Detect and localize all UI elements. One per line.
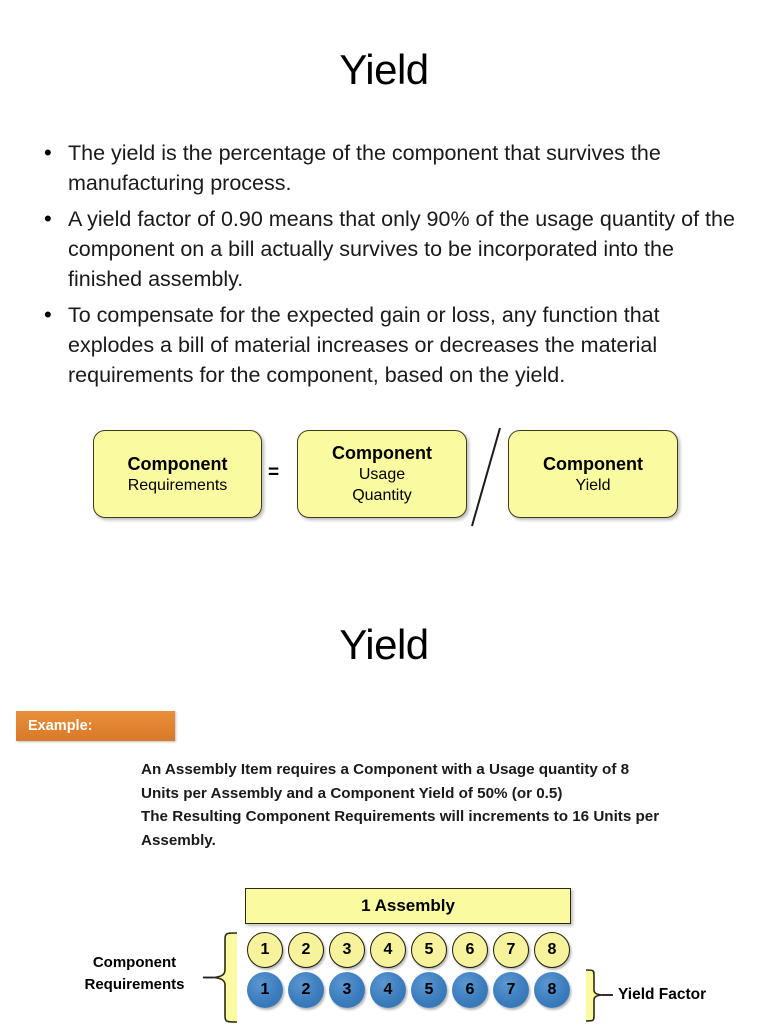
bullet-dot-icon: • [38,300,68,330]
circle-item: 3 [329,972,365,1008]
component-requirements-label: Component Requirements [72,952,197,996]
circle-item: 6 [452,932,488,968]
circle-item: 2 [288,932,324,968]
circle-item: 4 [370,972,406,1008]
circle-item: 1 [247,972,283,1008]
equals-sign: = [268,463,279,483]
list-item: • The yield is the percentage of the com… [38,138,738,198]
component-circles-grid: 12345678 12345678 [247,932,575,1024]
bullet-text: To compensate for the expected gain or l… [68,300,738,390]
bullet-dot-icon: • [38,204,68,234]
example-badge-label: Example: [28,718,92,734]
circle-item: 1 [247,932,283,968]
slide-yield-example: Yield Example: An Assembly Item requires… [0,600,768,1024]
formula-box-line3: Quantity [352,485,412,506]
division-slash-icon [466,426,508,528]
page-title: Yield [0,46,768,94]
circle-item: 5 [411,932,447,968]
page-title: Yield [0,621,768,669]
circle-item: 6 [452,972,488,1008]
list-item: • A yield factor of 0.90 means that only… [38,204,738,294]
left-brace-icon [203,930,243,1025]
bullet-text: The yield is the percentage of the compo… [68,138,738,198]
formula-box-component-yield: Component Yield [508,430,678,518]
bullet-text: A yield factor of 0.90 means that only 9… [68,204,738,294]
bullet-list: • The yield is the percentage of the com… [38,138,738,396]
formula-box-component-usage-quantity: Component Usage Quantity [297,430,467,518]
circle-item: 5 [411,972,447,1008]
circle-item: 7 [493,972,529,1008]
formula-box-line1: Component [128,453,228,475]
circle-item: 2 [288,972,324,1008]
formula-box-line2: Yield [576,475,611,496]
formula-box-line1: Component [332,442,432,464]
circle-row-usage: 12345678 [247,932,575,968]
circle-row-yield: 12345678 [247,972,575,1008]
yield-factor-label: Yield Factor [618,985,706,1005]
formula-box-line2: Requirements [128,475,228,496]
formula-box-component-requirements: Component Requirements [93,430,262,518]
slide-yield-definition: Yield • The yield is the percentage of t… [0,0,768,600]
circle-item: 4 [370,932,406,968]
example-description: An Assembly Item requires a Component wi… [141,758,661,852]
circle-item: 7 [493,932,529,968]
circle-item: 3 [329,932,365,968]
circle-item: 8 [534,972,570,1008]
formula-box-line2: Usage [359,464,405,485]
assembly-bar: 1 Assembly [245,888,571,924]
right-brace-icon [583,968,613,1023]
yield-formula-diagram: Component Requirements = Component Usage… [0,420,768,530]
formula-box-line1: Component [543,453,643,475]
assembly-bar-label: 1 Assembly [361,896,455,916]
bullet-dot-icon: • [38,138,68,168]
circle-item: 8 [534,932,570,968]
example-badge: Example: [16,711,175,741]
list-item: • To compensate for the expected gain or… [38,300,738,390]
